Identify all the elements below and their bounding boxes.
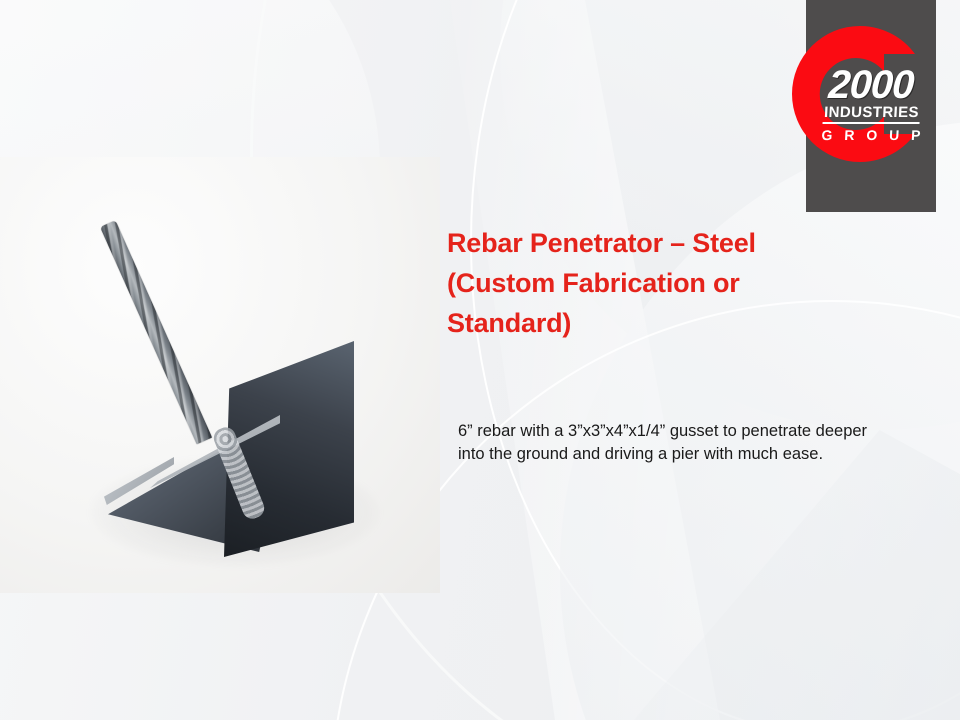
background-wedge-center <box>420 0 720 720</box>
slide-canvas: 2000 INDUSTRIES G R O U P Rebar Penetrat… <box>0 0 960 720</box>
background-wedge-lower-right <box>600 430 960 720</box>
description-line-2: into the ground and driving a pier with … <box>458 443 933 466</box>
page-title: Rebar Penetrator – Steel (Custom Fabrica… <box>447 223 847 343</box>
title-line-1: Rebar Penetrator – Steel <box>447 223 847 263</box>
product-photo <box>0 157 440 593</box>
company-logo[interactable]: 2000 INDUSTRIES G R O U P <box>806 0 936 212</box>
logo-industries-text: INDUSTRIES <box>822 104 920 124</box>
title-line-2: (Custom Fabrication or <box>447 263 847 303</box>
title-line-3: Standard) <box>447 303 847 343</box>
description-text: 6” rebar with a 3”x3”x4”x1/4” gusset to … <box>458 420 933 466</box>
logo-wordmark: 2000 INDUSTRIES G R O U P <box>806 66 936 144</box>
logo-group-text: G R O U P <box>806 126 937 144</box>
logo-year-text: 2000 <box>805 66 937 104</box>
description-line-1: 6” rebar with a 3”x3”x4”x1/4” gusset to … <box>458 420 933 443</box>
